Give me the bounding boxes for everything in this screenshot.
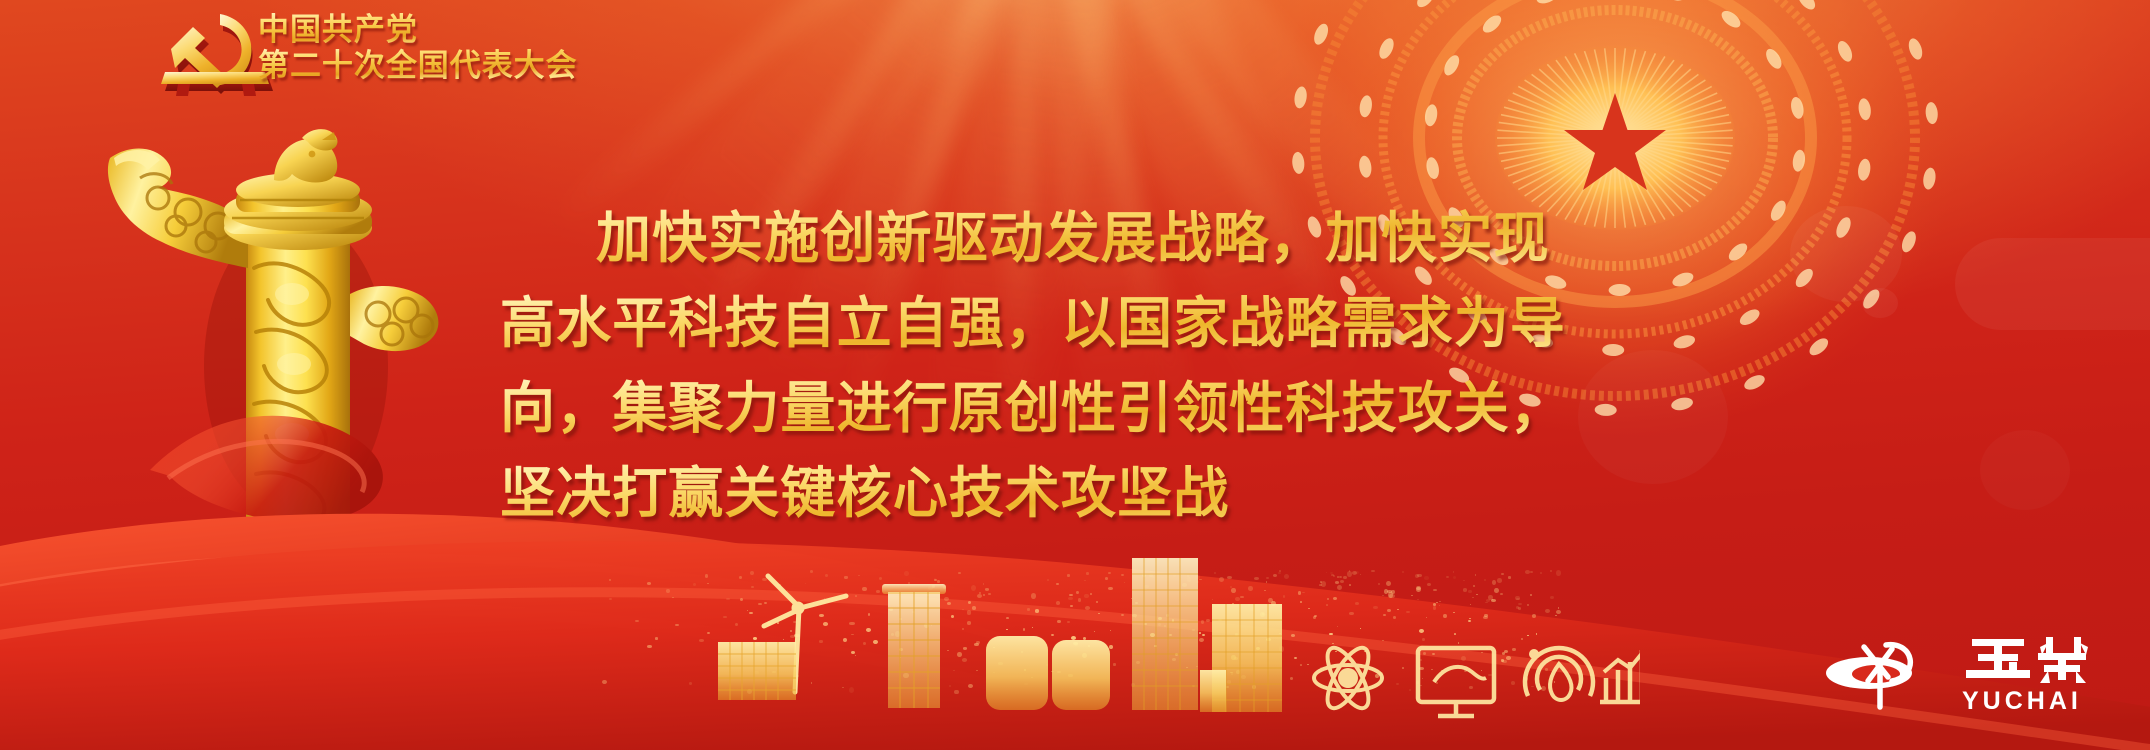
main-slogan: 加快实施创新驱动发展战略，加快实现 高水平科技自立自强，以国家战略需求为导 向，…: [500, 196, 1700, 536]
target-analytics-icon: [1525, 648, 1593, 700]
bokeh-pill: [1955, 238, 2150, 330]
low-block: [1200, 670, 1226, 712]
twin-silos: [986, 636, 1110, 710]
slogan-line-4: 坚决打赢关键核心技术攻坚战: [500, 451, 1700, 536]
slogan-line-3: 向，集聚力量进行原创性引领性科技攻关，: [500, 366, 1700, 451]
grid-building: [718, 642, 796, 700]
slogan-line-1: 加快实施创新驱动发展战略，加快实现: [500, 196, 1700, 281]
monitor-screen-icon: [1418, 648, 1494, 716]
yuchai-ellipse-mark: [1824, 637, 1944, 713]
huabiao-ceremonial-column: [96, 118, 456, 588]
conference-title: 中国共产党 第二十次全国代表大会: [258, 12, 578, 84]
yuchai-brand-en: YUCHAI: [1962, 687, 2112, 716]
bokeh-circle: [1862, 288, 1898, 318]
growth-chart-icon: [1600, 638, 1640, 703]
atom-icon: [1314, 642, 1382, 714]
yuchai-logo: YUCHAI: [1824, 633, 2112, 716]
high-rise: [1132, 558, 1198, 710]
conference-banner: 中国共产党 第二十次全国代表大会: [0, 0, 2150, 750]
bokeh-circle: [1980, 430, 2070, 510]
city-skyline-silhouette: [600, 550, 1640, 750]
slogan-line-2: 高水平科技自立自强，以国家战略需求为导: [500, 281, 1700, 366]
tall-tower: [882, 584, 946, 708]
yuchai-brand-cn: [1962, 633, 2112, 683]
red-star-icon: [1564, 93, 1666, 190]
bokeh-circle: [1790, 206, 1902, 302]
conference-title-line2: 第二十次全国代表大会: [258, 48, 578, 84]
conference-title-line1: 中国共产党: [258, 12, 578, 48]
